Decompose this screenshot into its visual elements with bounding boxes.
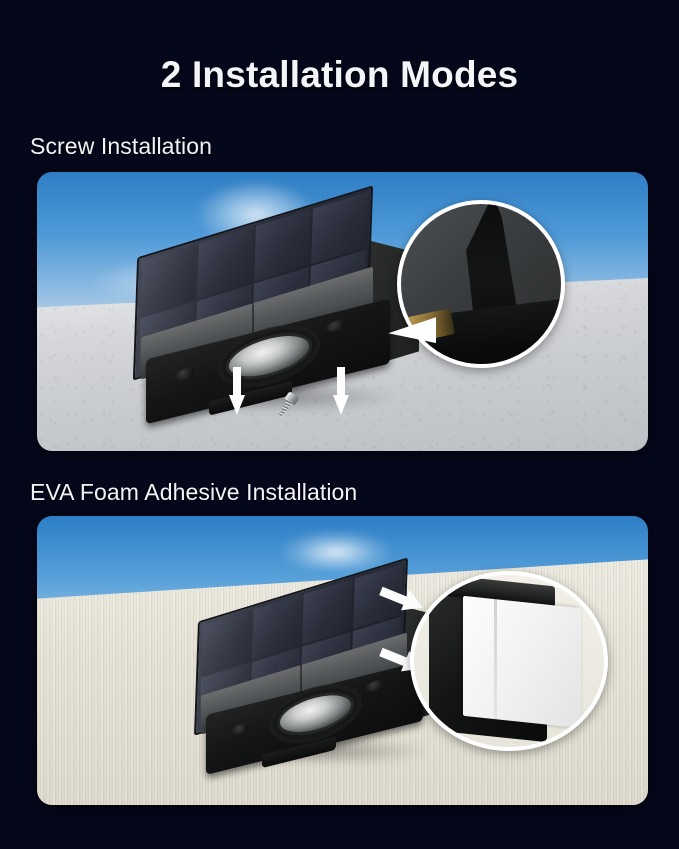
mount-arrow-left: [229, 367, 244, 415]
sensor-port: [176, 366, 195, 381]
arrow-head: [333, 395, 349, 415]
sensor-port: [367, 679, 384, 693]
page-title: 2 Installation Modes: [0, 54, 679, 96]
sensor-port: [327, 318, 346, 333]
photo-panel-eva-foam-adhesive-installation: [37, 516, 648, 805]
photo-panel-screw-installation: [37, 172, 648, 451]
sensor-port: [232, 722, 249, 736]
arrow-stem: [233, 367, 241, 397]
eva-foam-pad-closeup-callout: [410, 571, 608, 751]
infographic-page: 2 Installation Modes Screw Installation: [0, 0, 679, 849]
scene-eva-foam-adhesive-installation: [37, 516, 648, 805]
scene-screw-installation: [37, 172, 648, 451]
eva-foam-adhesive-pad: [463, 596, 581, 729]
arrow-stem: [337, 367, 345, 397]
light-lens: [280, 688, 352, 738]
arrow-head: [229, 395, 245, 415]
cloud-shape: [281, 530, 391, 570]
section-label-screw-installation: Screw Installation: [30, 133, 212, 160]
screw-hole-closeup-callout: [397, 200, 565, 368]
mount-arrow-right: [333, 367, 348, 415]
solar-wall-light-product: [135, 211, 425, 401]
section-label-eva-foam-adhesive-installation: EVA Foam Adhesive Installation: [30, 479, 357, 506]
